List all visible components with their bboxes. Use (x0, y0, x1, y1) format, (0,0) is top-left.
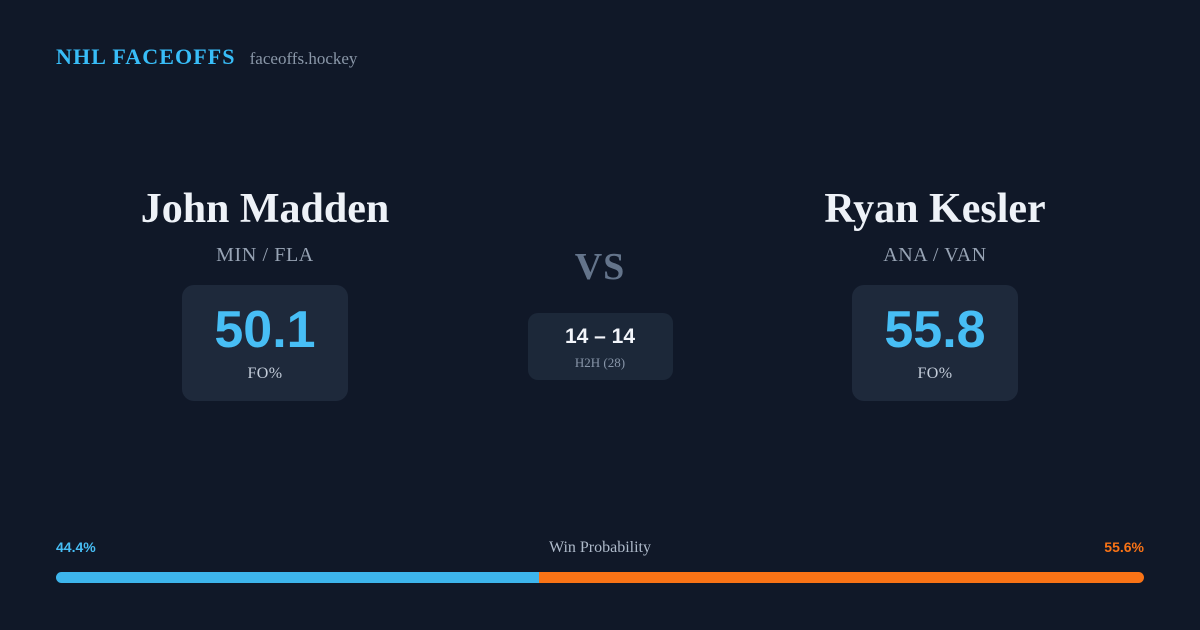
player-teams-left: MIN / FLA (216, 245, 314, 265)
faceoff-stat-label-left: FO% (248, 366, 283, 382)
site-header: NHL FACEOFFS faceoffs.hockey (56, 46, 357, 68)
faceoff-stat-card-right: 55.8 FO% (852, 285, 1018, 401)
win-probability-bar-right-segment (539, 572, 1144, 583)
brand-title: NHL FACEOFFS (56, 46, 236, 68)
win-probability-bar (56, 572, 1144, 583)
faceoff-stat-card-left: 50.1 FO% (182, 285, 348, 401)
win-probability-right-value: 55.6% (1104, 540, 1144, 554)
player-name-right: Ryan Kesler (824, 186, 1045, 233)
player-card-right: Ryan Kesler ANA / VAN 55.8 FO% (710, 186, 1160, 401)
faceoff-percentage-right: 55.8 (884, 304, 985, 356)
versus-label: VS (575, 248, 626, 286)
faceoff-stat-label-right: FO% (918, 366, 953, 382)
player-card-left: John Madden MIN / FLA 50.1 FO% (40, 186, 490, 401)
head-to-head-badge: 14 – 14 H2H (28) (528, 313, 673, 380)
win-probability-title: Win Probability (549, 540, 651, 556)
win-probability-bar-left-segment (56, 572, 539, 583)
versus-column: VS 14 – 14 H2H (28) (490, 186, 710, 380)
head-to-head-label: H2H (28) (575, 356, 625, 369)
faceoff-percentage-left: 50.1 (214, 304, 315, 356)
player-name-left: John Madden (141, 186, 390, 233)
player-teams-right: ANA / VAN (883, 245, 987, 265)
matchup-section: John Madden MIN / FLA 50.1 FO% VS 14 – 1… (0, 186, 1200, 401)
brand-domain: faceoffs.hockey (250, 50, 358, 67)
win-probability-section: 44.4% Win Probability 55.6% (56, 540, 1144, 583)
win-probability-labels: 44.4% Win Probability 55.6% (56, 540, 1144, 558)
head-to-head-score: 14 – 14 (565, 326, 635, 347)
win-probability-left-value: 44.4% (56, 540, 96, 554)
